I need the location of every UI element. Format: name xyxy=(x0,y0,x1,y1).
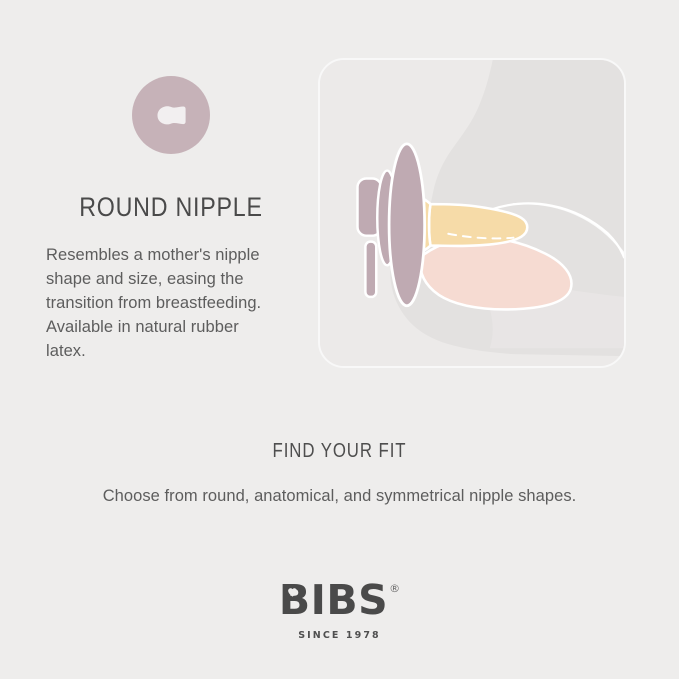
feature-icon-wrapper xyxy=(46,60,296,170)
illustration-card xyxy=(318,58,626,368)
find-your-fit-block: FIND YOUR FIT Choose from round, anatomi… xyxy=(0,440,679,506)
pacifier-handle-strap xyxy=(365,242,376,297)
brand-tagline: SINCE 1978 xyxy=(298,630,381,641)
round-nipple-shape-icon xyxy=(131,75,211,155)
pacifier-in-mouth-illustration xyxy=(320,60,624,366)
brand-wordmark-wrapper: BIBS ® xyxy=(279,580,400,621)
feature-title: ROUND NIPPLE xyxy=(64,192,279,223)
pacifier-shield xyxy=(389,144,425,306)
brand-logo: BIBS ® SINCE 1978 xyxy=(0,580,679,641)
find-your-fit-subtitle: Choose from round, anatomical, and symme… xyxy=(0,487,679,506)
feature-section: ROUND NIPPLE Resembles a mother's nipple… xyxy=(0,0,679,400)
brand-wordmark: BIBS xyxy=(279,580,388,621)
registered-trademark-icon: ® xyxy=(389,583,400,594)
feature-column: ROUND NIPPLE Resembles a mother's nipple… xyxy=(46,60,296,363)
find-your-fit-title: FIND YOUR FIT xyxy=(54,440,624,463)
feature-description: Resembles a mother's nipple shape and si… xyxy=(46,243,296,363)
